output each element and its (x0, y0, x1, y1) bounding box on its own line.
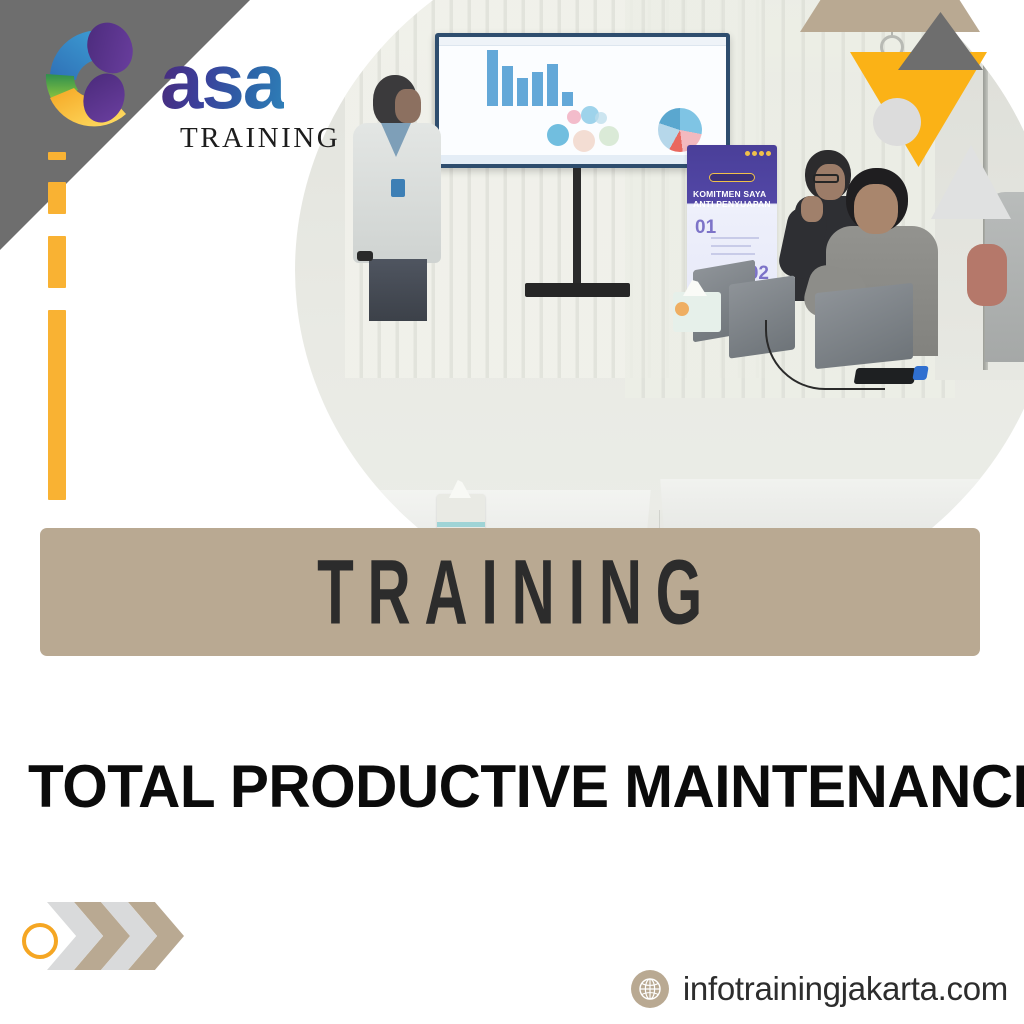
logo-subtitle: TRAINING (180, 122, 340, 155)
presenter-person (351, 75, 443, 320)
presenter-face (395, 89, 421, 123)
screen-bar (487, 50, 498, 106)
poster-line (711, 253, 755, 255)
training-photo: KOMITMEN SAYA ANTI PENYUAPAN 01 02 (295, 0, 1024, 535)
screen-bubble (547, 124, 569, 146)
monitor-screen (439, 37, 726, 164)
monitor-stand (573, 168, 581, 288)
presentation-monitor (435, 33, 730, 168)
chevron-arrows-decoration (22, 882, 222, 982)
hanging-ring (880, 35, 904, 59)
poster-number-01: 01 (695, 217, 716, 239)
screen-bar (502, 66, 513, 106)
screen-bar (532, 72, 543, 106)
tissue-box-front (437, 494, 485, 530)
screen-bar (562, 92, 573, 106)
monitor-base (525, 283, 630, 297)
globe-icon (631, 970, 669, 1008)
website-url[interactable]: infotrainingjakarta.com (683, 970, 1008, 1008)
screen-bar-chart (487, 48, 573, 106)
screen-bubble (567, 110, 581, 124)
brand-logo: asa TRAINING (30, 18, 350, 158)
hanging-wire (891, 0, 893, 38)
yellow-dash-column (48, 152, 66, 522)
poster-dots (745, 151, 771, 156)
presenter-trousers (369, 259, 427, 321)
screen-bubble-chart (547, 106, 633, 152)
screen-bar (517, 78, 528, 106)
circular-swoosh-logo-icon (30, 18, 178, 153)
poster-line (711, 245, 751, 247)
logo-wordmark: asa (160, 46, 284, 116)
training-banner-label: TRAINING (304, 540, 716, 645)
screen-toolbar (439, 37, 726, 46)
poster-title: KOMITMEN SAYA ANTI PENYUAPAN (693, 189, 775, 209)
poster-title-line2: ANTI PENYUAPAN (693, 199, 771, 209)
page-title: TOTAL PRODUCTIVE MAINTENANCE (28, 752, 984, 821)
screen-bar (547, 64, 558, 106)
table-right (660, 479, 1024, 535)
website-footer[interactable]: infotrainingjakarta.com (631, 970, 1008, 1008)
screen-taskbar (439, 155, 726, 164)
tissue-box-right (673, 292, 721, 332)
yellow-dash (48, 236, 66, 288)
photo-ellipse-mask: KOMITMEN SAYA ANTI PENYUAPAN 01 02 (295, 0, 1024, 535)
training-banner: TRAINING (40, 528, 980, 656)
poster-title-line1: KOMITMEN SAYA (693, 189, 766, 199)
room-background: KOMITMEN SAYA ANTI PENYUAPAN 01 02 (295, 0, 1024, 535)
yellow-dash (48, 182, 66, 214)
attendee-arm (967, 244, 1007, 306)
screen-bubble (595, 112, 607, 124)
attendee-face (854, 184, 898, 234)
screen-bubble (573, 130, 595, 152)
poster-pill (709, 173, 755, 182)
screen-bubble (599, 126, 619, 146)
attendee-glasses (813, 174, 839, 183)
attendee-hand (801, 196, 823, 222)
orange-circle-outline (22, 923, 58, 959)
presenter-badge (391, 179, 405, 197)
yellow-dash (48, 310, 66, 500)
poster-line (711, 237, 759, 239)
presenter-watch (357, 251, 373, 261)
